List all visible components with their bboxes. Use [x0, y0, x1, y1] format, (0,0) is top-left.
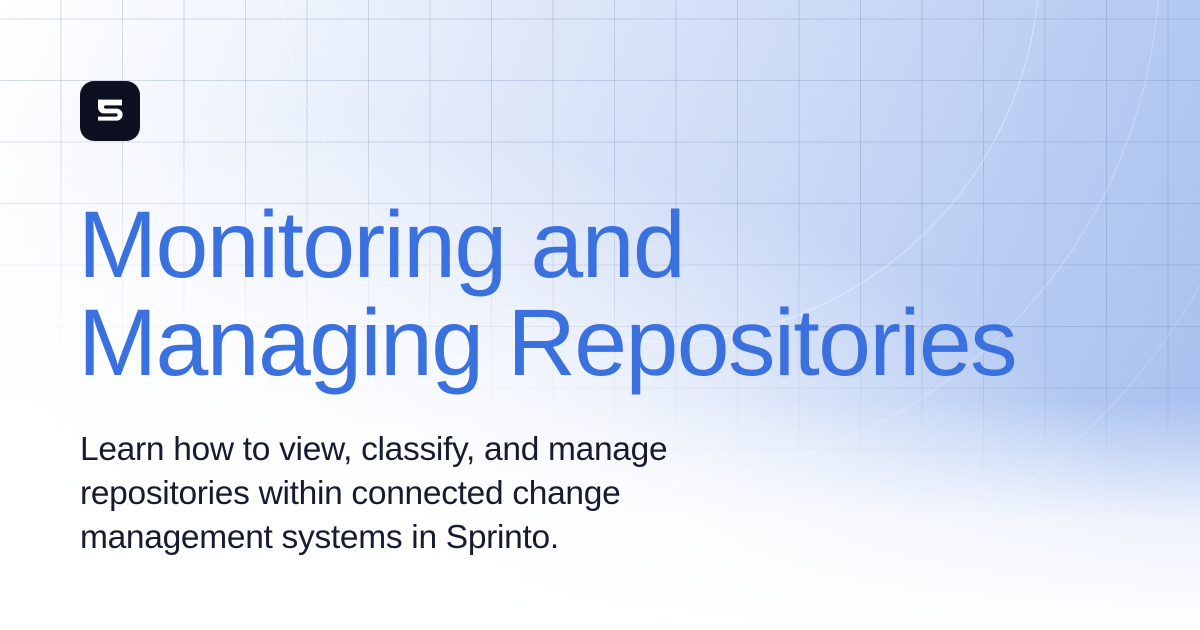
sprinto-s-logo-icon: [93, 94, 127, 128]
page-subtitle: Learn how to view, classify, and manage …: [80, 428, 820, 560]
banner-content: Monitoring and Managing Repositories Lea…: [0, 0, 1200, 630]
sprinto-logo: [80, 81, 140, 141]
og-banner-canvas: Monitoring and Managing Repositories Lea…: [0, 0, 1200, 630]
page-title: Monitoring and Managing Repositories: [78, 196, 1138, 392]
